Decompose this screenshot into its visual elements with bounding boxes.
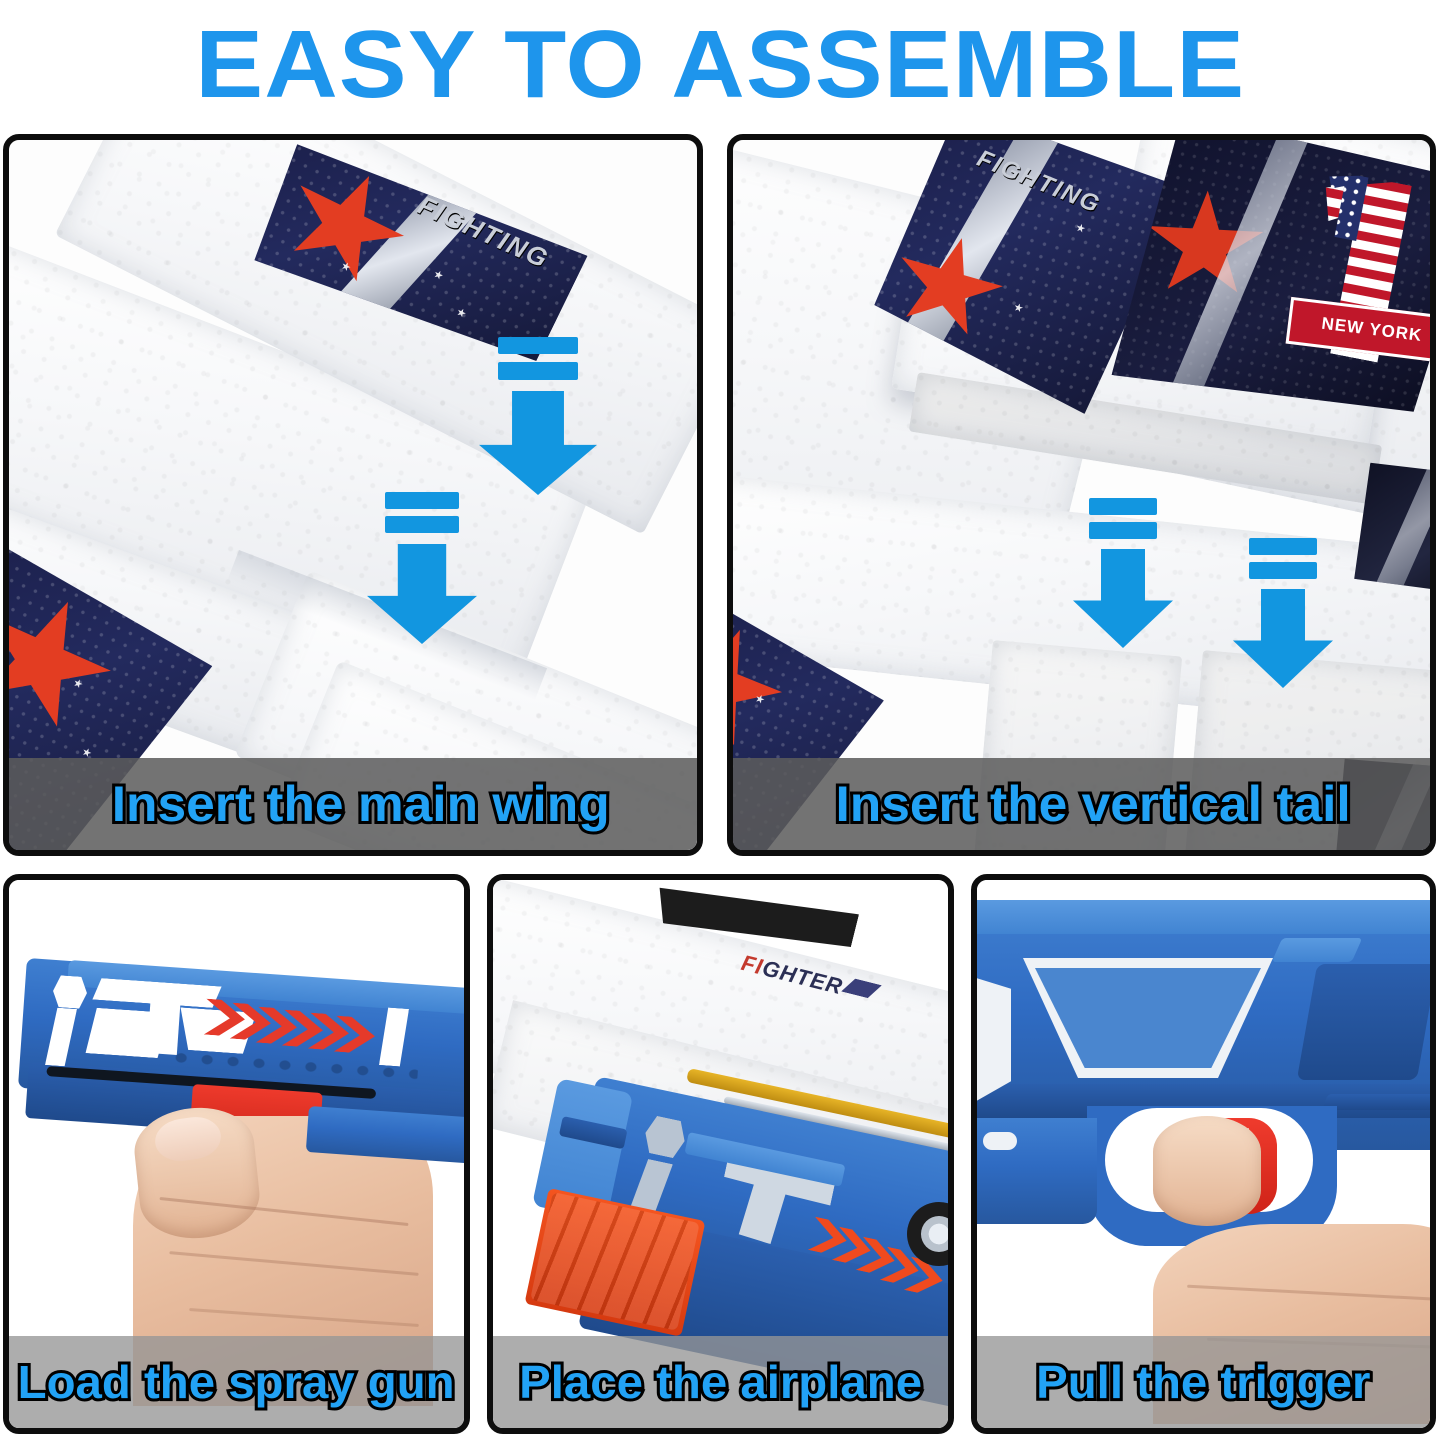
- arrow-down-2: [367, 492, 477, 644]
- decal-tiny-star: [1075, 223, 1086, 234]
- arrow-head: [1233, 589, 1333, 688]
- decal-tiny-star: [72, 678, 84, 690]
- panel-place-the-airplane: FIGHTER: [487, 874, 954, 1434]
- panel-2-scene: FIGHTING NEW YORK: [733, 140, 1430, 850]
- arrow-bar: [1249, 562, 1317, 579]
- decal-tiny-star: [1013, 302, 1024, 313]
- page-title: EASY TO ASSEMBLE: [195, 17, 1245, 113]
- instruction-infographic: EASY TO ASSEMBLE FIGHTING: [0, 0, 1440, 1440]
- panel-4-caption: Place the airplane: [519, 1355, 922, 1409]
- decal-tiny-star: [432, 269, 444, 281]
- arrow-bar: [385, 492, 460, 509]
- arrow-bar: [1249, 538, 1317, 555]
- decal-tiny-star: [81, 747, 93, 759]
- panel-insert-main-wing: FIGHTING FIGHTING: [3, 134, 703, 856]
- arrow-bar: [498, 362, 578, 379]
- arrow-bar: [385, 516, 460, 533]
- launcher-right-accent-2: [1322, 1094, 1430, 1110]
- panel-load-the-spray-gun: Load the spray gun: [3, 874, 470, 1434]
- panel-1-scene: FIGHTING FIGHTING: [9, 140, 697, 850]
- launcher-cutout: [147, 991, 181, 1055]
- arrow-down-1: [1073, 498, 1173, 648]
- panel-2-caption: Insert the vertical tail: [835, 775, 1350, 833]
- new-york-badge: NEW YORK: [1292, 169, 1430, 374]
- panel-3-caption-bar: Load the spray gun: [9, 1336, 464, 1428]
- arrow-down-1: [479, 337, 597, 495]
- panel-2-caption-bar: Insert the vertical tail: [733, 758, 1430, 850]
- decal-tiny-star: [455, 307, 467, 319]
- arrow-bar: [1089, 498, 1157, 515]
- panel-pull-the-trigger: Pull the trigger: [971, 874, 1436, 1434]
- panel-5-caption-bar: Pull the trigger: [977, 1336, 1430, 1428]
- arrow-down-2: [1233, 538, 1333, 688]
- arrow-head: [367, 544, 477, 644]
- launcher-right-panel: [1297, 964, 1430, 1080]
- arrow-head: [1073, 549, 1173, 648]
- arrow-bar: [498, 337, 578, 354]
- panel-4-caption-bar: Place the airplane: [493, 1336, 948, 1428]
- panel-insert-vertical-tail: FIGHTING NEW YORK: [727, 134, 1436, 856]
- launcher-lower-left-cut: [983, 1132, 1017, 1150]
- panel-1-caption-bar: Insert the main wing: [9, 758, 697, 850]
- panel-5-caption: Pull the trigger: [1036, 1355, 1370, 1409]
- trigger-finger: [1153, 1116, 1261, 1226]
- arrow-head: [479, 391, 597, 495]
- panel-1-caption: Insert the main wing: [112, 775, 610, 833]
- launcher-right-accent: [1272, 938, 1363, 962]
- launcher-top-edge: [977, 900, 1430, 934]
- new-york-text: NEW YORK: [1320, 314, 1423, 346]
- page-title-bar: EASY TO ASSEMBLE: [0, 0, 1440, 130]
- panel-3-caption: Load the spray gun: [18, 1355, 455, 1409]
- arrow-bar: [1089, 522, 1157, 539]
